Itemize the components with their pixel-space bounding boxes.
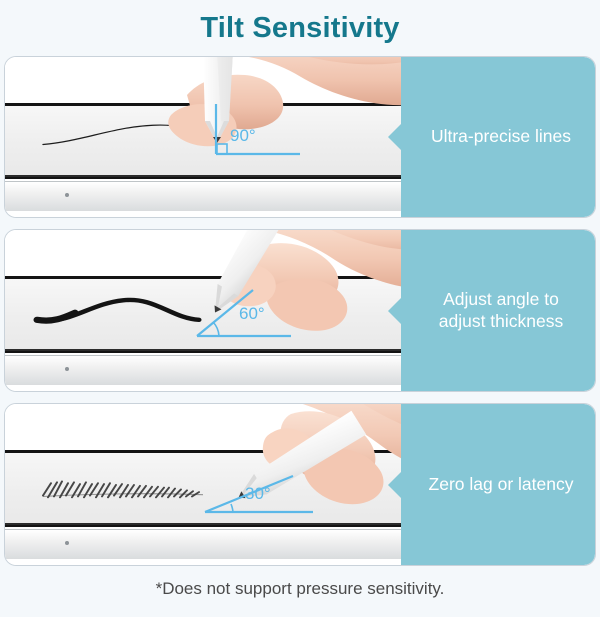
feature-panel-adjust-angle: 60° Adjust angle to adjust thickness [4,229,596,392]
tablet-screen-1 [5,103,401,179]
camera-dot-icon [65,367,69,371]
angle-label-60: 60° [239,304,265,324]
angle-indicator-30: 30° [197,468,327,524]
backdrop-2 [5,230,401,279]
caption-text-3: Zero lag or latency [429,474,574,496]
caption-notch-icon [388,471,402,499]
camera-dot-icon [65,541,69,545]
backdrop-3 [5,404,401,453]
tablet-bezel-2 [5,355,401,385]
footnote-text: *Does not support pressure sensitivity. [156,579,445,599]
caption-line-1: Adjust angle to [443,289,559,309]
panel-photo-1: 90° [5,57,401,217]
caption-notch-icon [388,297,402,325]
tablet-bezel-3 [5,529,401,559]
caption-card-2: Adjust angle to adjust thickness [401,230,595,391]
caption-notch-icon [388,123,402,151]
camera-dot-icon [65,193,69,197]
feature-panel-list: 90° Ultra-precise lines [0,56,600,566]
angle-indicator-90: 90° [208,104,318,166]
panel-photo-2: 60° [5,230,401,391]
angle-label-30: 30° [245,484,271,504]
caption-line-2: adjust thickness [439,311,564,331]
footnote: *Does not support pressure sensitivity. [0,566,600,611]
tablet-bezel-1 [5,181,401,211]
panel-photo-3: 30° [5,404,401,565]
caption-card-3: Zero lag or latency [401,404,595,565]
backdrop-1 [5,57,401,106]
angle-indicator-60: 60° [187,288,305,348]
caption-card-1: Ultra-precise lines [401,57,595,217]
feature-panel-ultra-precise-lines: 90° Ultra-precise lines [4,56,596,218]
caption-text-1: Ultra-precise lines [431,126,571,148]
angle-label-90: 90° [230,126,256,146]
page-title: Tilt Sensitivity [200,12,399,45]
caption-text-2: Adjust angle to adjust thickness [439,289,564,333]
drawn-stroke-thin-curve [5,106,401,176]
page-header: Tilt Sensitivity [0,0,600,56]
feature-panel-zero-lag: 30° Zero lag or latency [4,403,596,566]
